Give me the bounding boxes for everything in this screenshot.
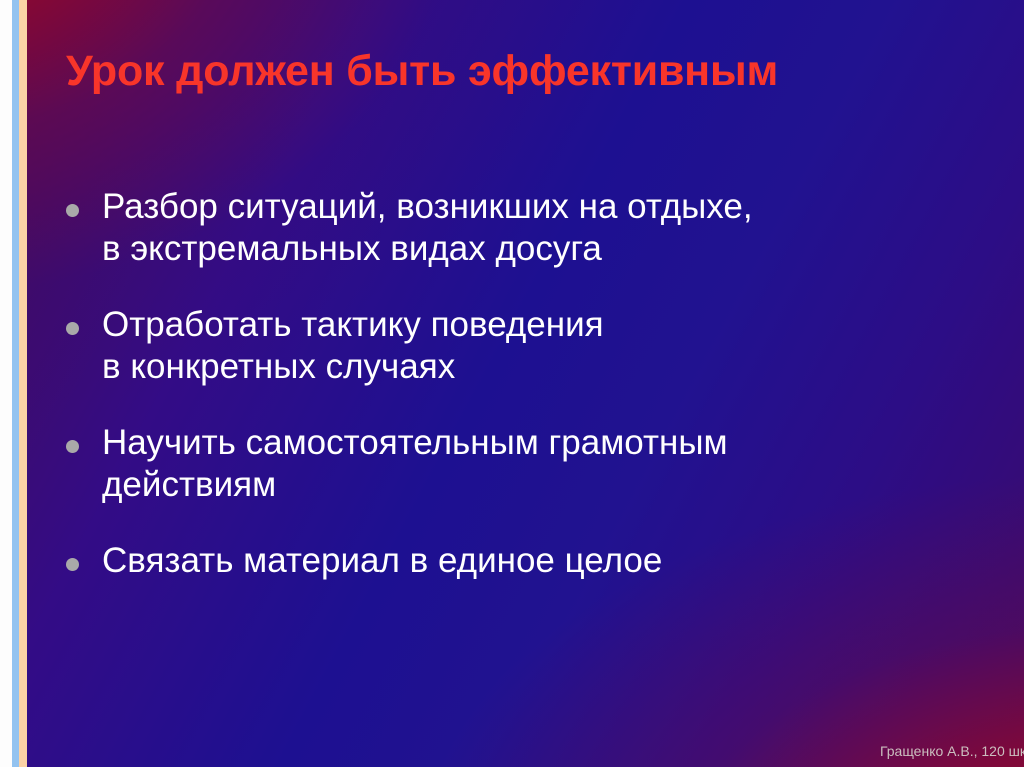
slide-title: Урок должен быть эффективным	[66, 48, 986, 95]
list-item: Связать материал в единое целое	[62, 540, 992, 582]
bullet-line-secondary: в экстремальных видах досуга	[102, 228, 992, 270]
presentation-slide: Урок должен быть эффективным Разбор ситу…	[0, 0, 1024, 767]
bullet-line-primary: Научить самостоятельным грамотным	[102, 422, 992, 464]
bullet-dot-icon	[66, 558, 79, 571]
bullet-line-primary: Разбор ситуаций, возникших на отдыхе,	[102, 186, 992, 228]
white-stripe	[0, 0, 12, 767]
left-edge-decoration	[0, 0, 27, 767]
bullet-line-primary: Связать материал в единое целое	[102, 540, 992, 582]
peach-stripe	[19, 0, 27, 767]
bullet-list: Разбор ситуаций, возникших на отдыхе, в …	[62, 186, 992, 582]
slide-footer-credit: Гращенко А.В., 120 шк	[880, 743, 1024, 759]
bullet-dot-icon	[66, 322, 79, 335]
bullet-line-primary: Отработать тактику поведения	[102, 304, 992, 346]
bullet-dot-icon	[66, 204, 79, 217]
list-item: Научить самостоятельным грамотным действ…	[62, 422, 992, 506]
bullet-line-secondary: в конкретных случаях	[102, 346, 992, 388]
bullet-dot-icon	[66, 440, 79, 453]
list-item: Отработать тактику поведения в конкретны…	[62, 304, 992, 388]
list-item: Разбор ситуаций, возникших на отдыхе, в …	[62, 186, 992, 270]
bullet-line-secondary: действиям	[102, 464, 992, 506]
blue-stripe	[12, 0, 19, 767]
